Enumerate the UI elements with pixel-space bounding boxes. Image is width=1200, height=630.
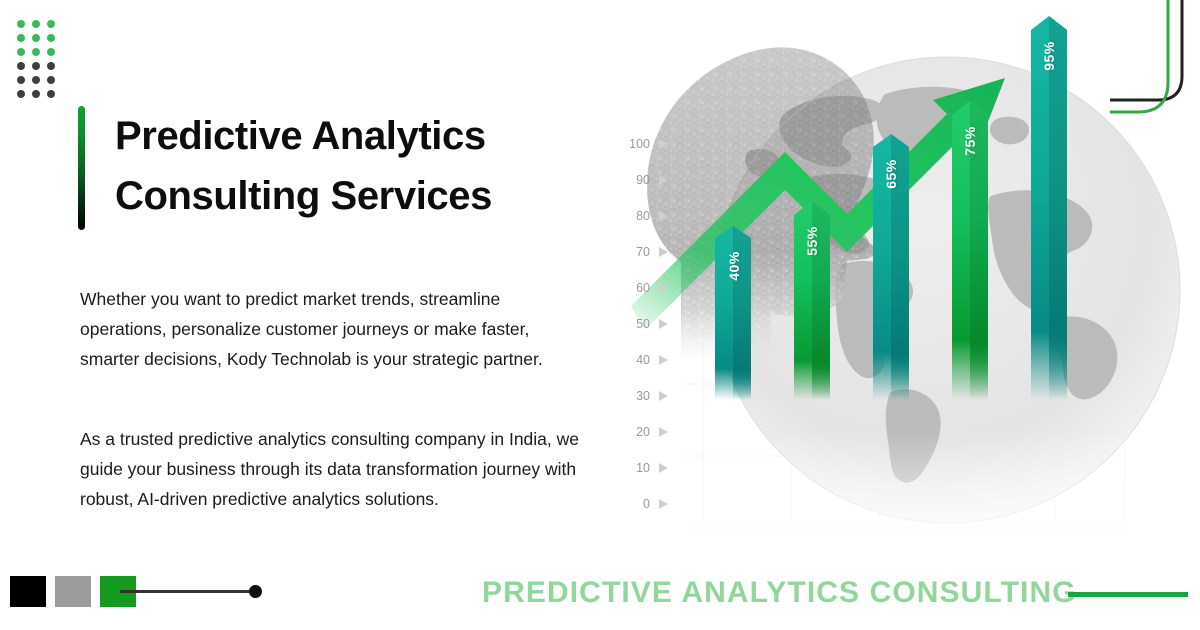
y-tick-80: 80	[624, 209, 668, 223]
footer-rule-line	[120, 590, 253, 593]
visual-illustration: 40% 55% 65% 75% 95%	[585, 0, 1200, 560]
y-tick-label: 90	[624, 173, 650, 187]
bar-value-label-5: 95%	[1041, 21, 1057, 91]
footer-banner-rule	[1068, 592, 1188, 597]
y-tick-label: 20	[624, 425, 650, 439]
swatch-black	[10, 576, 46, 607]
page-title-line-2: Consulting Services	[115, 166, 492, 226]
page-title: Predictive Analytics Consulting Services	[115, 106, 492, 230]
triangle-right-icon	[659, 247, 668, 257]
y-tick-100: 100	[624, 137, 668, 151]
triangle-right-icon	[659, 139, 668, 149]
y-tick-label: 50	[624, 317, 650, 331]
hero-text-column: Predictive Analytics Consulting Services…	[0, 0, 600, 630]
chart-y-axis: 100 90 80 70 60 50 40 30 20 10 0	[608, 0, 668, 530]
triangle-right-icon	[659, 175, 668, 185]
footer-rule-dot	[249, 585, 262, 598]
y-tick-0: 0	[624, 497, 668, 511]
bar-value-label-1: 40%	[726, 231, 742, 301]
triangle-right-icon	[659, 283, 668, 293]
page-title-block: Predictive Analytics Consulting Services	[78, 106, 492, 230]
y-tick-90: 90	[624, 173, 668, 187]
triangle-right-icon	[659, 211, 668, 221]
triangle-right-icon	[659, 319, 668, 329]
bar-value-label-3: 65%	[883, 139, 899, 209]
y-tick-label: 10	[624, 461, 650, 475]
y-tick-30: 30	[624, 389, 668, 403]
y-tick-label: 0	[624, 497, 650, 511]
bar-value-label-2: 55%	[804, 206, 820, 276]
y-tick-70: 70	[624, 245, 668, 259]
y-tick-label: 100	[624, 137, 650, 151]
bar-value-label-4: 75%	[962, 106, 978, 176]
y-tick-20: 20	[624, 425, 668, 439]
triangle-right-icon	[659, 427, 668, 437]
footer-banner-text: PREDICTIVE ANALYTICS CONSULTING	[482, 576, 1077, 610]
triangle-right-icon	[659, 355, 668, 365]
y-tick-40: 40	[624, 353, 668, 367]
hero-paragraph-2: As a trusted predictive analytics consul…	[80, 424, 580, 514]
y-tick-label: 60	[624, 281, 650, 295]
triangle-right-icon	[659, 499, 668, 509]
y-tick-60: 60	[624, 281, 668, 295]
triangle-right-icon	[659, 391, 668, 401]
y-tick-label: 30	[624, 389, 650, 403]
y-tick-10: 10	[624, 461, 668, 475]
hero-paragraph-1: Whether you want to predict market trend…	[80, 284, 580, 374]
triangle-right-icon	[659, 463, 668, 473]
y-tick-label: 40	[624, 353, 650, 367]
swatch-gray	[55, 576, 91, 607]
y-tick-label: 80	[624, 209, 650, 223]
title-accent-bar	[78, 106, 85, 230]
y-tick-label: 70	[624, 245, 650, 259]
y-tick-50: 50	[624, 317, 668, 331]
chart-illustration-svg	[585, 0, 1200, 560]
page-title-line-1: Predictive Analytics	[115, 106, 492, 166]
